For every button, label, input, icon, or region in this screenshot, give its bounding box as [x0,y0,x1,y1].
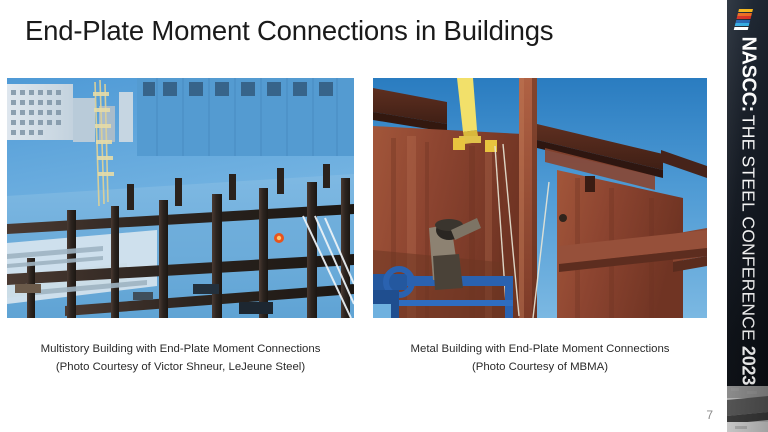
figure-multistory-building: Multistory Building with End-Plate Momen… [7,78,354,376]
brand-year: 2023 [737,346,758,385]
caption-line-1: Metal Building with End-Plate Moment Con… [373,341,707,359]
photo-metal-building [373,78,707,318]
caption-line-2: (Photo Courtesy of Victor Shneur, LeJeun… [7,359,354,377]
page-title: End-Plate Moment Connections in Building… [25,14,685,48]
nascc-logo-icon [733,9,753,33]
conference-branding-sidebar: NASCC: THE STEEL CONFERENCE 2023 [727,0,768,432]
brand-name: NASCC: [736,37,759,112]
photo-multistory-building [7,78,354,318]
caption-line-1: Multistory Building with End-Plate Momen… [7,341,354,359]
caption-metal-building: Metal Building with End-Plate Moment Con… [373,341,707,376]
page-number: 7 [706,408,713,422]
caption-multistory-building: Multistory Building with End-Plate Momen… [7,341,354,376]
caption-line-2: (Photo Courtesy of MBMA) [373,359,707,377]
slide-canvas: End-Plate Moment Connections in Building… [0,0,768,432]
brand-tagline: THE STEEL CONFERENCE [737,115,758,341]
figure-metal-building: Metal Building with End-Plate Moment Con… [373,78,707,376]
sidebar-texture-image [727,386,768,432]
conference-wordmark: NASCC: THE STEEL CONFERENCE 2023 [727,37,768,397]
